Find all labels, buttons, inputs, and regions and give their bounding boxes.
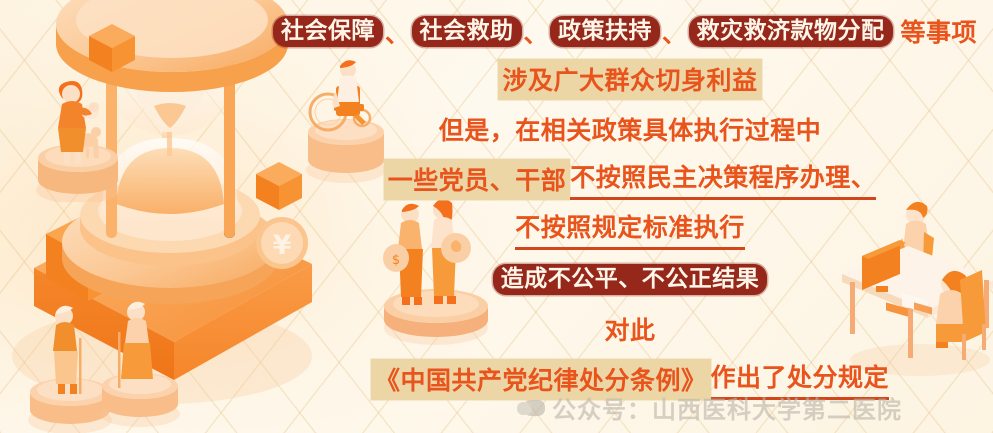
line-8-underline: 作出了处分规定 — [711, 358, 890, 400]
poster-canvas: ¥ — [0, 0, 993, 433]
line-7-text: 对此 — [604, 311, 655, 347]
text-line-2: 涉及广大群众切身利益 — [498, 54, 761, 104]
text-line-5: 不按照规定标准执行 — [515, 204, 745, 254]
line-8-highlight: 《中国共产党纪律处分条例》 — [371, 359, 711, 400]
elderly-woman — [118, 302, 153, 388]
elderly-figures — [18, 292, 188, 433]
text-content-block: 社会保障 、 社会救助 、 政策扶持 、 救灾救济款物分配 等事项 涉及广大群众… — [272, 8, 988, 408]
pill-badge-4: 救灾救济款物分配 — [689, 16, 893, 47]
line-3-text: 但是，在相关政策具体执行过程中 — [439, 111, 822, 147]
separator-3: 、 — [661, 14, 688, 49]
line-1-tail: 等事项 — [901, 13, 978, 49]
text-line-6: 造成不公平、不公正结果 — [492, 254, 769, 304]
mother-baby-dog-figure — [22, 62, 132, 202]
line-2-highlight: 涉及广大群众切身利益 — [498, 59, 761, 100]
line-4-underline: 不按照民主决策程序办理、 — [570, 158, 876, 200]
text-line-7: 对此 — [604, 304, 655, 354]
line-4-highlight: 一些党员、干部 — [384, 159, 571, 200]
separator-1: 、 — [384, 14, 411, 49]
pill-badge-3: 政策扶持 — [550, 16, 660, 47]
separator-2: 、 — [523, 14, 550, 49]
text-line-4: 一些党员、干部不按照民主决策程序办理、 — [384, 154, 877, 204]
text-line-1: 社会保障 、 社会救助 、 政策扶持 、 救灾救济款物分配 等事项 — [272, 8, 988, 54]
pill-badge-2: 社会救助 — [412, 16, 522, 47]
coin-stack-right — [100, 373, 180, 427]
line-5-underline: 不按照规定标准执行 — [515, 208, 745, 250]
text-line-3: 但是，在相关政策具体执行过程中 — [439, 104, 822, 154]
pill-badge-5: 造成不公平、不公正结果 — [493, 264, 768, 295]
pill-badge-1: 社会保障 — [273, 16, 383, 47]
text-line-8: 《中国共产党纪律处分条例》作出了处分规定 — [371, 354, 889, 404]
